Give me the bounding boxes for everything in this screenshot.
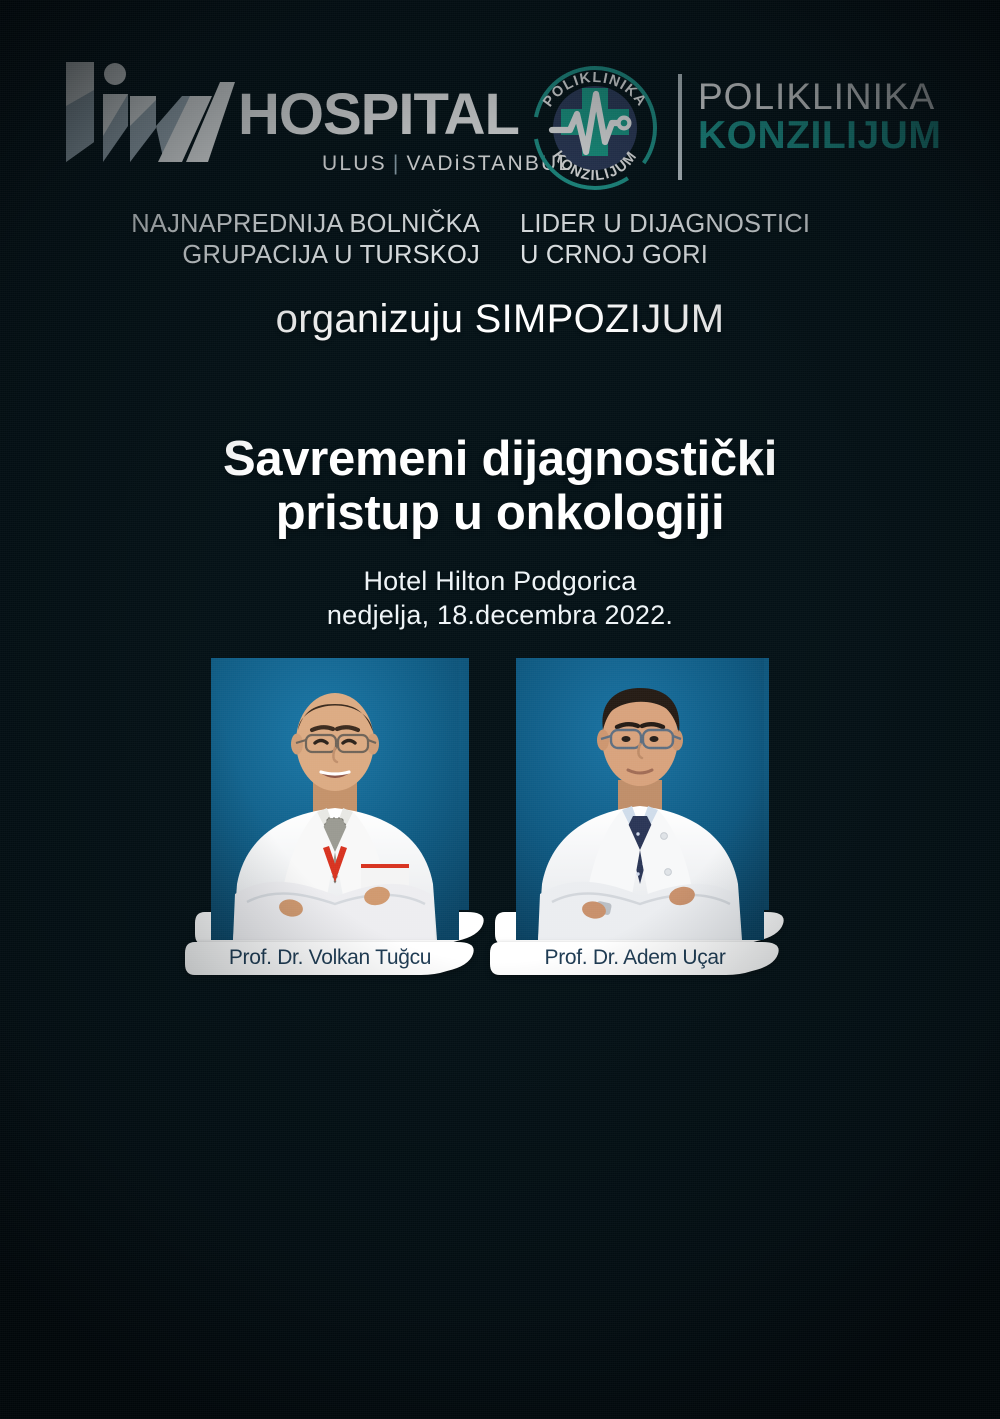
poliklinika-konzilijum-logo: POLIKLINIKA KONZILIJUM POLIKLINIKA KONZI… xyxy=(520,52,940,202)
tagline-konzilijum: LIDER U DIJAGNOSTICIU CRNOJ GORI xyxy=(520,209,940,271)
speaker-nameplate: Prof. Dr. Volkan Tuğcu xyxy=(185,942,485,975)
liv-hospital-logo: HOSPITAL ULUS|VADiSTANBUL xyxy=(60,60,480,200)
logo-divider-rule xyxy=(678,74,682,180)
speaker-photo-wrap xyxy=(490,658,790,940)
poster-title: Savremeni dijagnostičkipristup u onkolog… xyxy=(0,432,1000,540)
speaker-name: Prof. Dr. Adem Uçar xyxy=(490,942,790,975)
poster-canvas: HOSPITAL ULUS|VADiSTANBUL xyxy=(0,0,1000,1419)
liv-wordmark: HOSPITAL xyxy=(238,86,519,144)
speaker-portrait-image xyxy=(516,658,764,940)
taglines-row: NAJNAPREDNIJA BOLNIČKAGRUPACIJA U TURSKO… xyxy=(0,209,1000,275)
speakers-grid: Prof. Dr. Merdan Fayda xyxy=(0,658,1000,1308)
konzilijum-badge-icon: POLIKLINIKA KONZILIJUM xyxy=(525,58,665,198)
tagline-liv: NAJNAPREDNIJA BOLNIČKAGRUPACIJA U TURSKO… xyxy=(60,209,480,271)
venue-date: nedjelja, 18.decembra 2022. xyxy=(0,598,1000,632)
liv-sub-ulus: ULUS xyxy=(322,152,387,175)
konzilijum-line-konzilijum: KONZILIJUM xyxy=(698,116,941,156)
speaker-portrait-image xyxy=(211,658,459,940)
speaker-photo-wrap xyxy=(185,658,485,940)
liv-zigzag-icon xyxy=(60,60,235,165)
speaker-card: Prof. Dr. Adem Uçar xyxy=(490,658,790,975)
konzilijum-line-poliklinika: POLIKLINIKA xyxy=(698,78,941,116)
venue-place: Hotel Hilton Podgorica xyxy=(0,564,1000,598)
speaker-card: Prof. Dr. Volkan Tuğcu xyxy=(185,658,485,975)
konzilijum-wordmark: POLIKLINIKA KONZILIJUM xyxy=(698,78,941,156)
organizers-line: organizuju SIMPOZIJUM xyxy=(0,297,1000,342)
speaker-name: Prof. Dr. Volkan Tuğcu xyxy=(185,942,485,975)
speaker-nameplate: Prof. Dr. Adem Uçar xyxy=(490,942,790,975)
liv-sub-divider: | xyxy=(393,152,401,175)
logo-row: HOSPITAL ULUS|VADiSTANBUL xyxy=(0,52,1000,202)
venue-block: Hotel Hilton Podgorica nedjelja, 18.dece… xyxy=(0,564,1000,632)
